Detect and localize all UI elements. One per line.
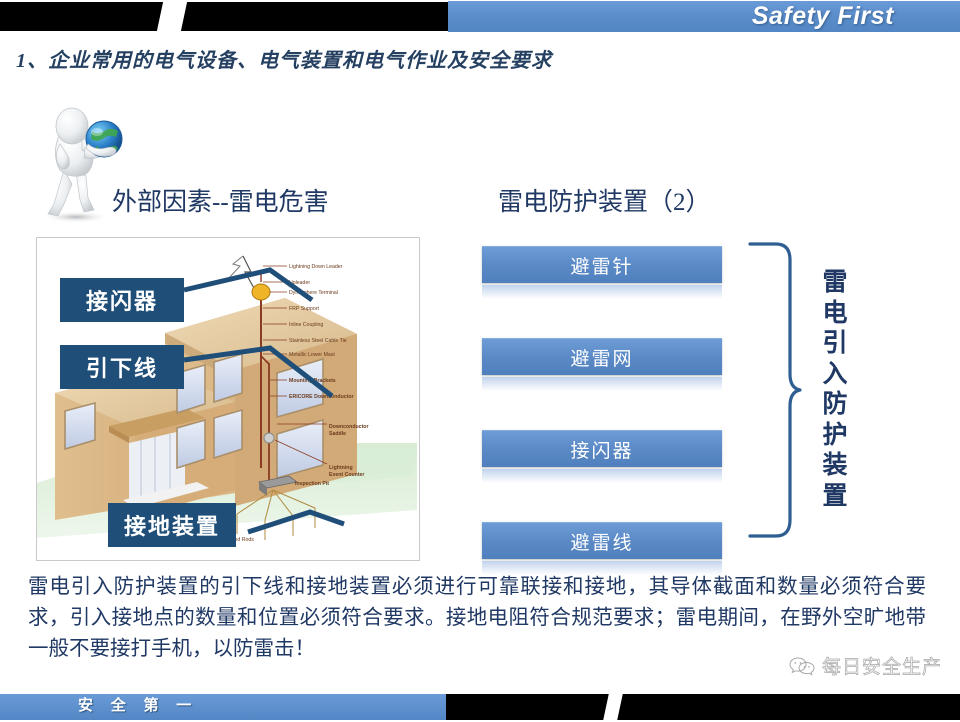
header-black-band-right: [176, 2, 448, 31]
callout-down-conductor: 引下线: [60, 345, 184, 389]
group-vertical-label: 雷 电 引 入 防 护 装 置: [818, 268, 852, 512]
device-bar-label: 避雷线: [482, 522, 722, 559]
device-bar-reflection: [482, 377, 722, 391]
footer-black-band: [446, 694, 960, 720]
group-label-char: 护: [818, 421, 852, 452]
slide-footer: 安 全 第 一: [0, 694, 960, 720]
group-label-char: 雷: [818, 268, 852, 299]
device-bar-reflection: [482, 469, 722, 483]
device-bar-label: 接闪器: [482, 430, 722, 467]
page-title: 1、企业常用的电气设备、电气装置和电气作业及安全要求: [16, 44, 552, 73]
wechat-icon: [789, 656, 815, 676]
device-bar-list: 避雷针 避雷网 接闪器 避雷线: [482, 246, 722, 614]
device-bar-item[interactable]: 避雷网: [482, 338, 722, 391]
group-label-char: 电: [818, 299, 852, 330]
device-bar-label: 避雷网: [482, 338, 722, 375]
callout-air-terminal: 接闪器: [60, 278, 184, 322]
watermark-text: 每日安全生产: [822, 652, 942, 679]
device-bar-item[interactable]: 避雷线: [482, 522, 722, 575]
group-brace-icon: [746, 240, 802, 540]
heading-right: 雷电防护装置（2）: [498, 182, 711, 218]
slide-header: Safety First: [0, 0, 960, 33]
footer-slogan: 安 全 第 一: [78, 694, 198, 720]
group-label-char: 置: [818, 482, 852, 513]
group-label-char: 入: [818, 360, 852, 391]
callout-grounding-device: 接地装置: [108, 503, 236, 547]
wechat-watermark: 每日安全生产: [789, 652, 942, 679]
device-bar-label: 避雷针: [482, 246, 722, 283]
heading-left: 外部因素--雷电危害: [112, 182, 329, 218]
device-bar-item[interactable]: 避雷针: [482, 246, 722, 299]
brand-title: Safety First: [752, 1, 894, 32]
group-label-char: 防: [818, 390, 852, 421]
slide-root: Safety First 1、企业常用的电气设备、电气装置和电气作业及安全要求: [0, 0, 960, 720]
device-bar-reflection: [482, 285, 722, 299]
header-black-band-left: [0, 2, 168, 31]
group-label-char: 引: [818, 329, 852, 360]
group-label-char: 装: [818, 451, 852, 482]
device-bar-item[interactable]: 接闪器: [482, 430, 722, 483]
